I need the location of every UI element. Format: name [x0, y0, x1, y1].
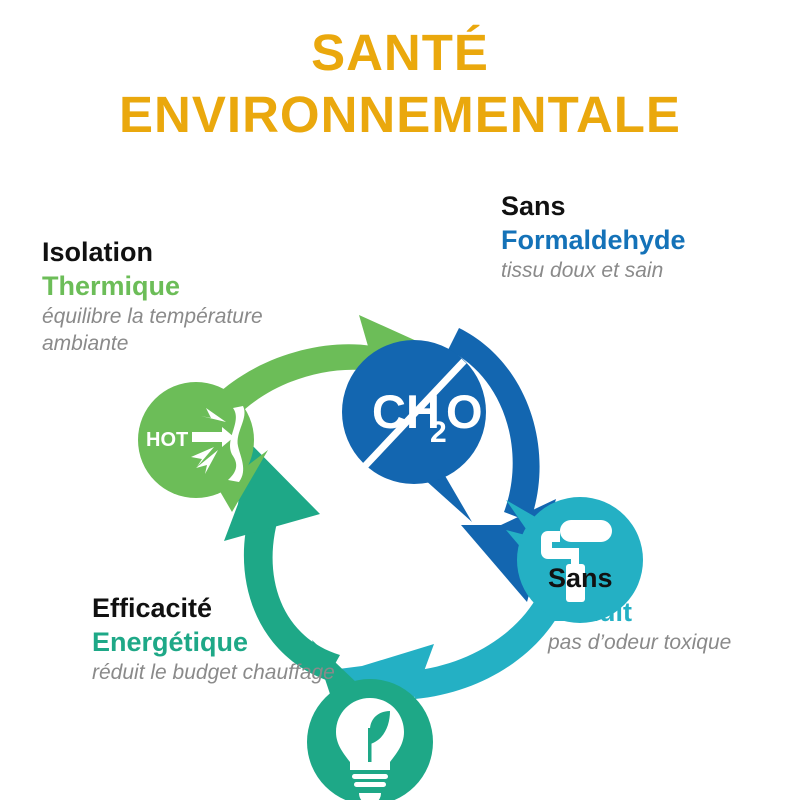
callout-formaldehyde: Sans Formaldehyde tissu doux et sain — [501, 190, 686, 284]
hot-label: HOT — [146, 429, 188, 451]
ch2o-label-sub: 2 — [430, 416, 447, 449]
callout-formaldehyde-line1: Sans — [501, 190, 686, 223]
page-title: SANTÉ ENVIRONNEMENTALE — [0, 22, 800, 146]
callout-enduit-line3: pas d’odeur toxique — [548, 629, 798, 656]
callout-isolation: Isolation Thermique équilibre la tempéra… — [42, 236, 342, 357]
node-formaldehyde[interactable]: CH 2 O — [342, 340, 486, 522]
title-line-1: SANTÉ — [0, 22, 800, 84]
callout-formaldehyde-line3: tissu doux et sain — [501, 257, 686, 284]
callout-efficacite-line2: Energétique — [92, 625, 342, 659]
callout-formaldehyde-line2: Formaldehyde — [501, 223, 686, 257]
callout-enduit: Sans Enduit pas d’odeur toxique — [548, 562, 798, 656]
callout-efficacite-line1: Efficacité — [92, 592, 342, 625]
callout-enduit-line2: Enduit — [548, 595, 798, 629]
callout-isolation-line2: Thermique — [42, 269, 342, 303]
callout-isolation-line3: équilibre la température ambiante — [42, 303, 342, 357]
callout-efficacite-line3: réduit le budget chauffage — [92, 659, 342, 686]
callout-isolation-line1: Isolation — [42, 236, 342, 269]
callout-enduit-line1: Sans — [548, 562, 798, 595]
title-line-2: ENVIRONNEMENTALE — [0, 84, 800, 146]
callout-efficacite: Efficacité Energétique réduit le budget … — [92, 592, 342, 686]
infographic-page: SANTÉ ENVIRONNEMENTALE — [0, 0, 800, 800]
ch2o-label-tail: O — [446, 385, 483, 438]
